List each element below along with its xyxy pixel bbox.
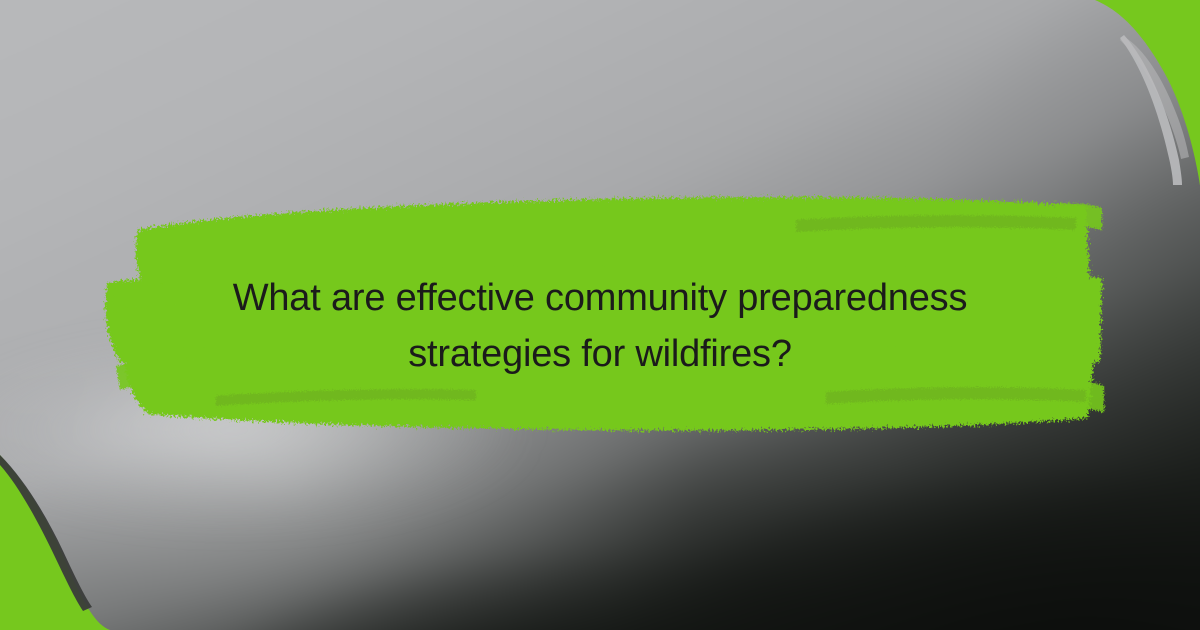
page-title: What are effective community preparednes… xyxy=(130,270,1070,382)
question-card: What are effective community preparednes… xyxy=(0,0,1200,630)
